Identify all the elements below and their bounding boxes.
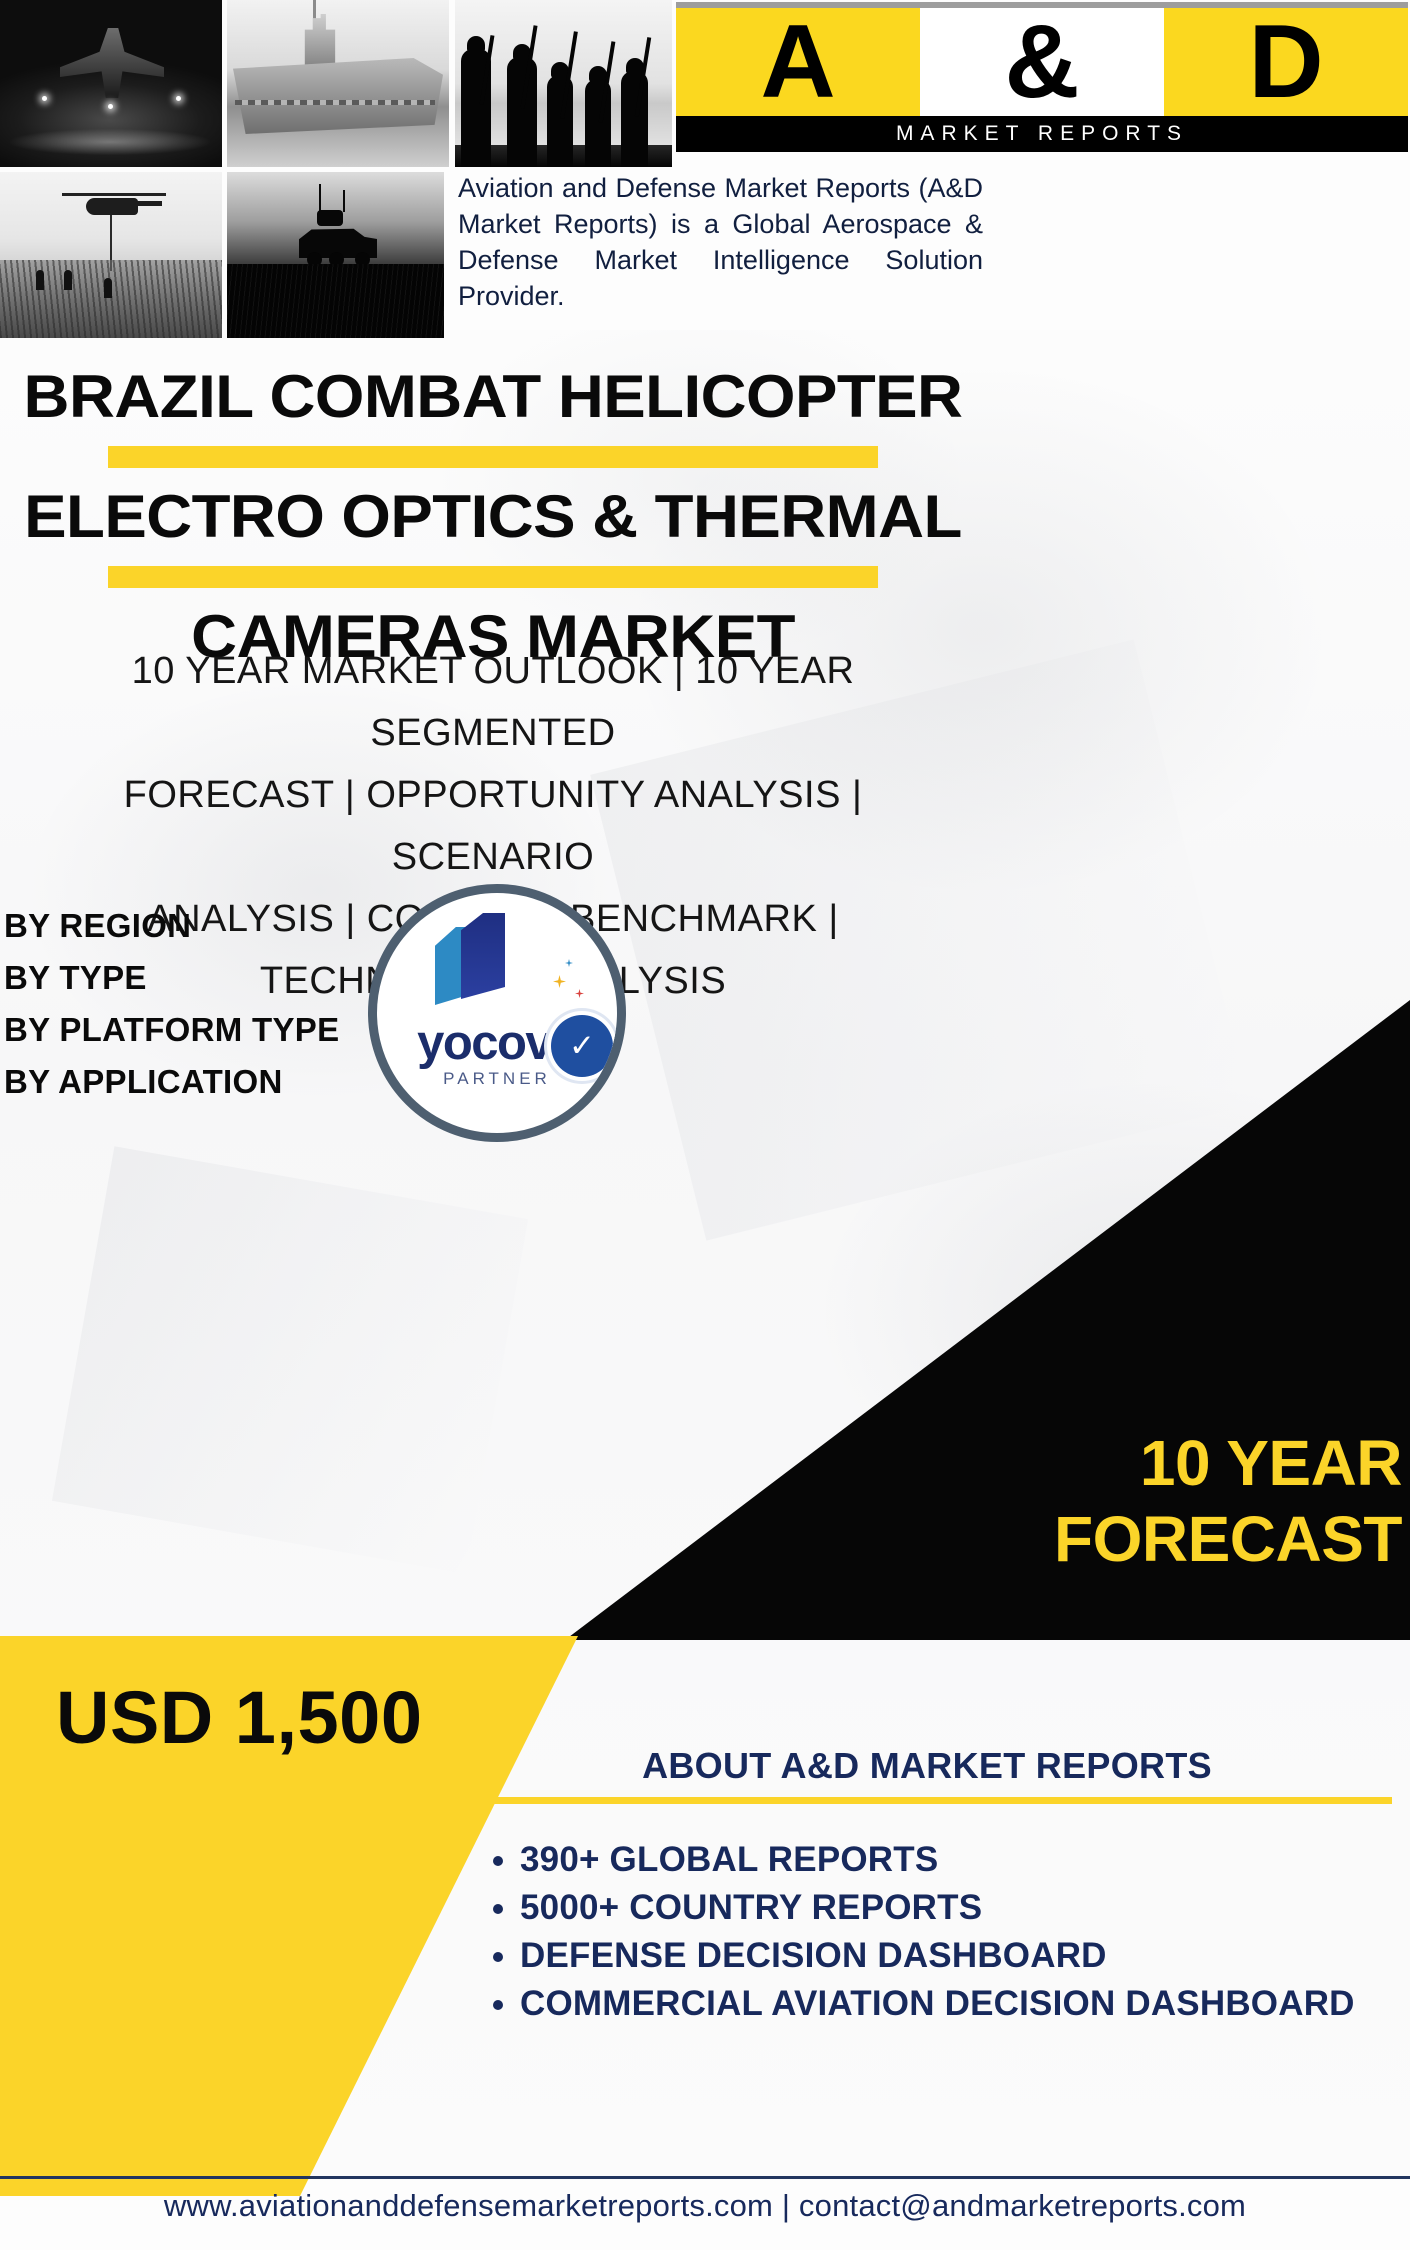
logo-letter-a: A <box>676 8 920 116</box>
yocova-chevron-dark-icon <box>461 913 505 999</box>
title-highlight-bar <box>108 566 878 588</box>
company-intro-text: Aviation and Defense Market Reports (A&D… <box>458 170 983 314</box>
runway-glow <box>10 129 210 155</box>
footer-divider <box>0 2176 1410 2179</box>
shoreline <box>455 145 672 167</box>
about-item-country-reports: 5000+ COUNTRY REPORTS <box>520 1886 1392 1930</box>
segmentation-list: BY REGION BY TYPE BY PLATFORM TYPE BY AP… <box>4 900 339 1108</box>
helicopter-photo <box>0 172 222 338</box>
verified-check-icon: ✓ <box>551 1015 613 1077</box>
ground-figure <box>64 270 72 290</box>
forecast-line-1: 10 YEAR <box>702 1425 1402 1501</box>
ship-superstructure <box>285 14 351 66</box>
logo-letter-ampersand: & <box>920 8 1164 116</box>
turret <box>317 210 343 226</box>
marketing-poster: A & D MARKET REPORTS Aviation and Defens… <box>0 0 1410 2250</box>
logo-tagline: MARKET REPORTS <box>896 122 1188 146</box>
forecast-line-2: FORECAST <box>702 1501 1402 1577</box>
subtitle-line-2: FORECAST | OPPORTUNITY ANALYSIS | SCENAR… <box>18 764 968 888</box>
about-bullet-list: 390+ GLOBAL REPORTS 5000+ COUNTRY REPORT… <box>462 1838 1392 2026</box>
ship-hull <box>233 58 443 134</box>
yocova-partner-logo[interactable]: yocova PARTNER ✓ <box>368 884 626 1142</box>
ground-figure <box>36 270 44 290</box>
helicopter-tail <box>128 201 162 206</box>
logo-letter-d: D <box>1164 8 1408 116</box>
sparkle-icon <box>575 989 584 998</box>
antenna <box>319 184 321 212</box>
about-underline <box>462 1797 1392 1804</box>
report-title: BRAZIL COMBAT HELICOPTER ELECTRO OPTICS … <box>0 360 986 674</box>
logo-tagline-bar: MARKET REPORTS <box>676 116 1408 152</box>
title-line-2: ELECTRO OPTICS & THERMAL <box>0 480 1016 554</box>
about-heading: ABOUT A&D MARKET REPORTS <box>462 1745 1392 1787</box>
segment-item-region: BY REGION <box>4 900 339 952</box>
armored-vehicle-photo <box>227 172 444 338</box>
jet-light <box>176 96 181 101</box>
sparkle-icon <box>565 959 573 967</box>
about-item-defense-dashboard: DEFENSE DECISION DASHBOARD <box>520 1934 1392 1978</box>
segment-item-type: BY TYPE <box>4 952 339 1004</box>
aircraft-carrier-photo <box>227 0 449 167</box>
sparkle-icon <box>553 975 566 988</box>
about-item-global-reports: 390+ GLOBAL REPORTS <box>520 1838 1392 1882</box>
footer-contact[interactable]: www.aviationanddefensemarketreports.com … <box>0 2188 1410 2224</box>
soldiers-silhouette-photo <box>455 0 672 167</box>
background-streak <box>52 1146 528 1573</box>
jet-light <box>42 96 47 101</box>
rotor-blades <box>62 193 166 196</box>
ship-deck-markings <box>235 100 435 105</box>
and-market-reports-logo[interactable]: A & D MARKET REPORTS <box>676 2 1408 152</box>
field-foreground <box>0 260 222 338</box>
about-section: ABOUT A&D MARKET REPORTS 390+ GLOBAL REP… <box>462 1745 1392 2030</box>
segment-item-platform-type: BY PLATFORM TYPE <box>4 1004 339 1056</box>
fighter-jet-photo <box>0 0 222 167</box>
forecast-callout: 10 YEAR FORECAST <box>702 1425 1402 1577</box>
title-highlight-bar <box>108 446 878 468</box>
about-item-commercial-dashboard: COMMERCIAL AVIATION DECISION DASHBOARD <box>520 1982 1392 2026</box>
title-line-1: BRAZIL COMBAT HELICOPTER <box>0 360 1016 434</box>
jet-silhouette <box>60 28 164 98</box>
ground-figure <box>104 278 112 298</box>
segment-item-application: BY APPLICATION <box>4 1056 339 1108</box>
terrain-foreground <box>227 264 444 338</box>
logo-letter-blocks: A & D <box>676 8 1408 116</box>
antenna <box>343 190 345 212</box>
subtitle-line-1: 10 YEAR MARKET OUTLOOK | 10 YEAR SEGMENT… <box>18 640 968 764</box>
jet-light <box>108 104 113 109</box>
price-label: USD 1,500 <box>56 1675 422 1760</box>
